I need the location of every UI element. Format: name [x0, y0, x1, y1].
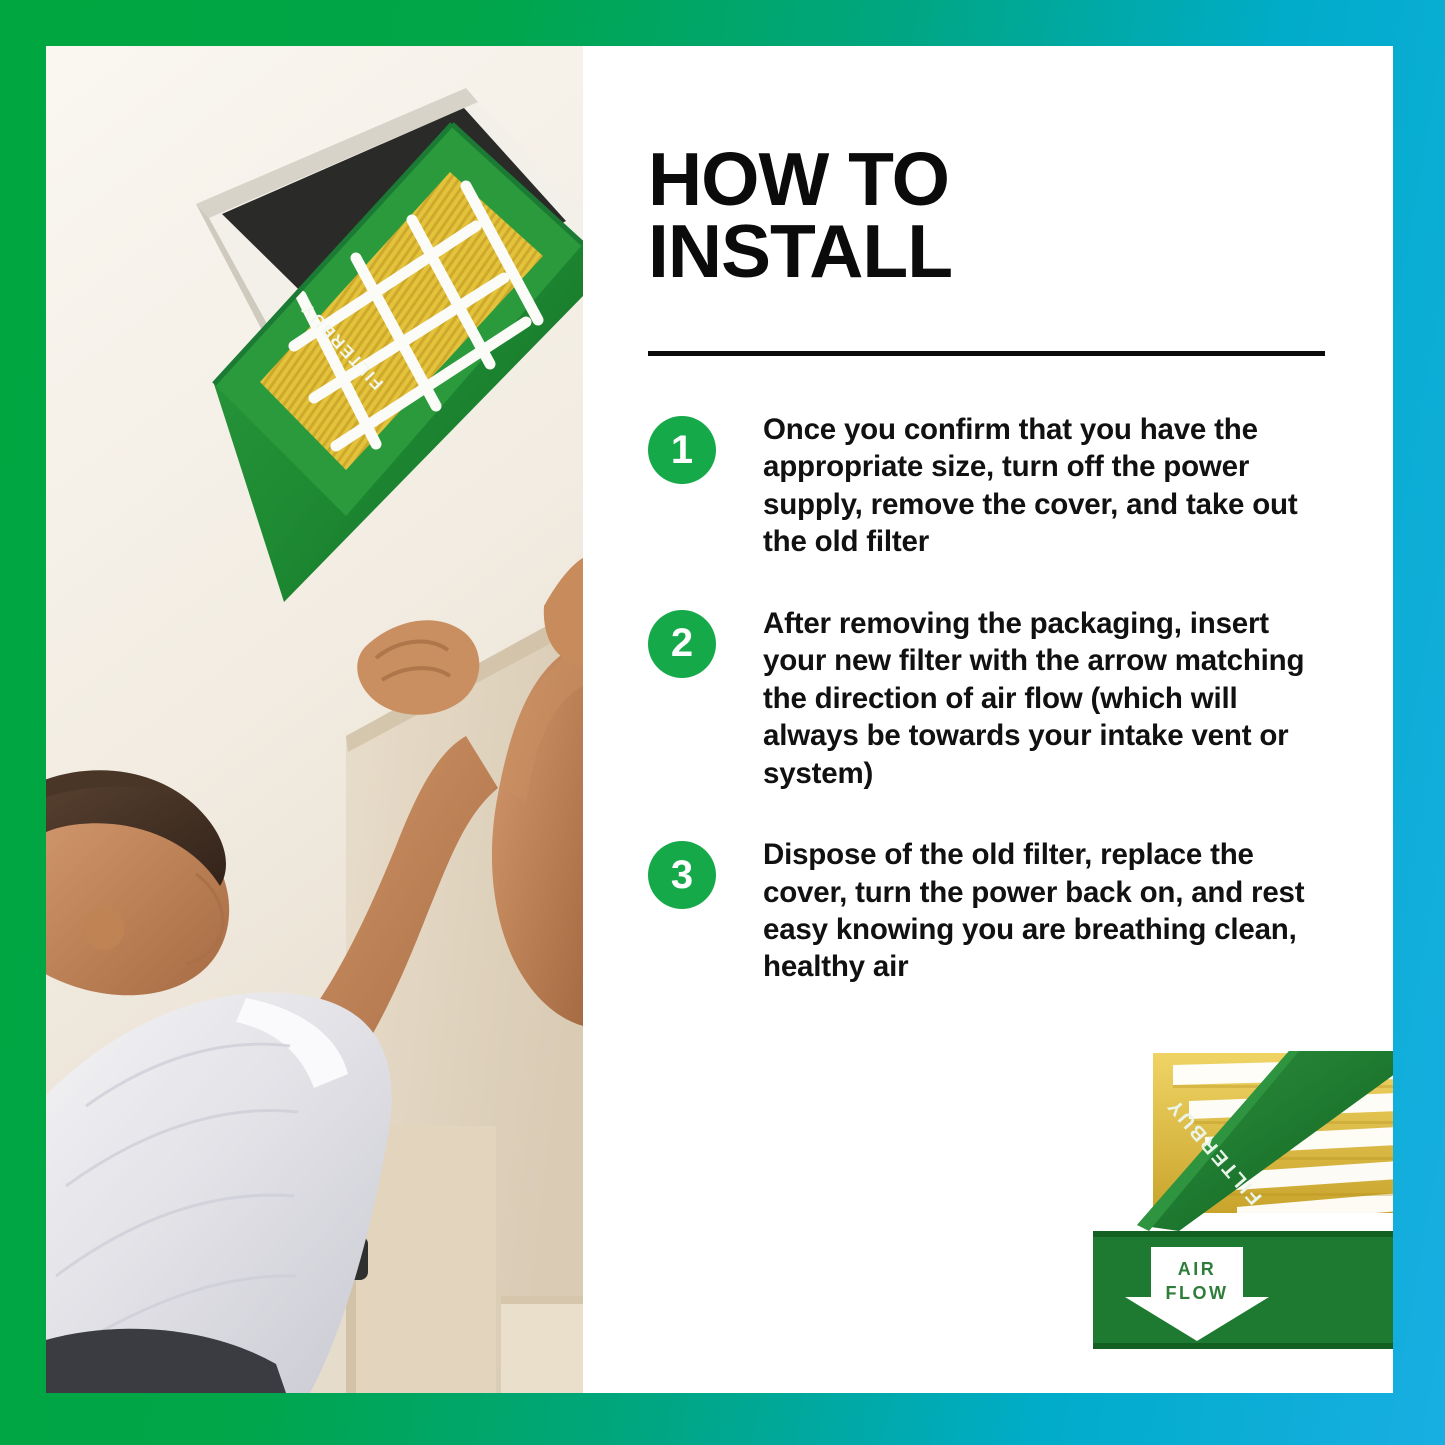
- title-divider: [648, 351, 1325, 356]
- page-title: HOW TO INSTALL: [648, 144, 1348, 287]
- list-item: 1 Once you confirm that you have the app…: [648, 411, 1338, 561]
- infographic-page: FILTERBUY: [0, 0, 1445, 1445]
- page-title-line-2: INSTALL: [648, 216, 1348, 287]
- list-item: 3 Dispose of the old filter, replace the…: [648, 836, 1338, 986]
- step-number-badge: 1: [648, 416, 716, 484]
- air-flow-label-line-2: FLOW: [1166, 1283, 1229, 1303]
- list-item: 2 After removing the packaging, insert y…: [648, 605, 1338, 792]
- step-number-badge: 2: [648, 610, 716, 678]
- content-card: FILTERBUY: [46, 46, 1393, 1393]
- steps-list: 1 Once you confirm that you have the app…: [648, 411, 1338, 1030]
- step-description: After removing the packaging, insert you…: [722, 605, 1338, 792]
- step-description: Once you confirm that you have the appro…: [722, 411, 1338, 561]
- product-filter-image: FILTERBUY AIR FLOW: [1093, 1035, 1393, 1393]
- air-flow-label-line-1: AIR: [1178, 1259, 1217, 1279]
- step-description: Dispose of the old filter, replace the c…: [722, 836, 1338, 986]
- installation-photo: FILTERBUY: [46, 46, 583, 1393]
- gradient-border-frame: FILTERBUY: [0, 0, 1445, 1445]
- product-illustration: FILTERBUY AIR FLOW: [1093, 1035, 1393, 1393]
- instructions-panel: HOW TO INSTALL 1 Once you confirm that y…: [583, 46, 1393, 1393]
- photo-illustration: FILTERBUY: [46, 46, 583, 1393]
- step-number-badge: 3: [648, 841, 716, 909]
